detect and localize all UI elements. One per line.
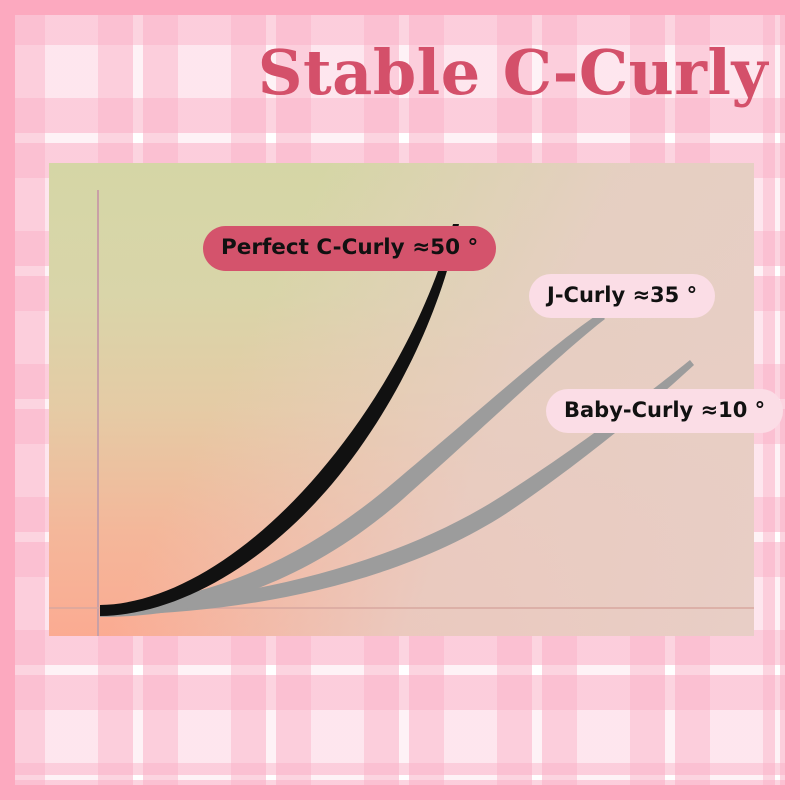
page-title: Stable C-Curly	[0, 40, 768, 105]
label-baby-curly[interactable]: Baby-Curly ≈10 °	[546, 389, 783, 433]
label-j-curly[interactable]: J-Curly ≈35 °	[529, 274, 715, 318]
label-perfect-c-curly[interactable]: Perfect C-Curly ≈50 °	[203, 226, 496, 271]
poster-root: Stable C-Curly Perfect C-Curly ≈50 ° J-C…	[0, 0, 800, 800]
